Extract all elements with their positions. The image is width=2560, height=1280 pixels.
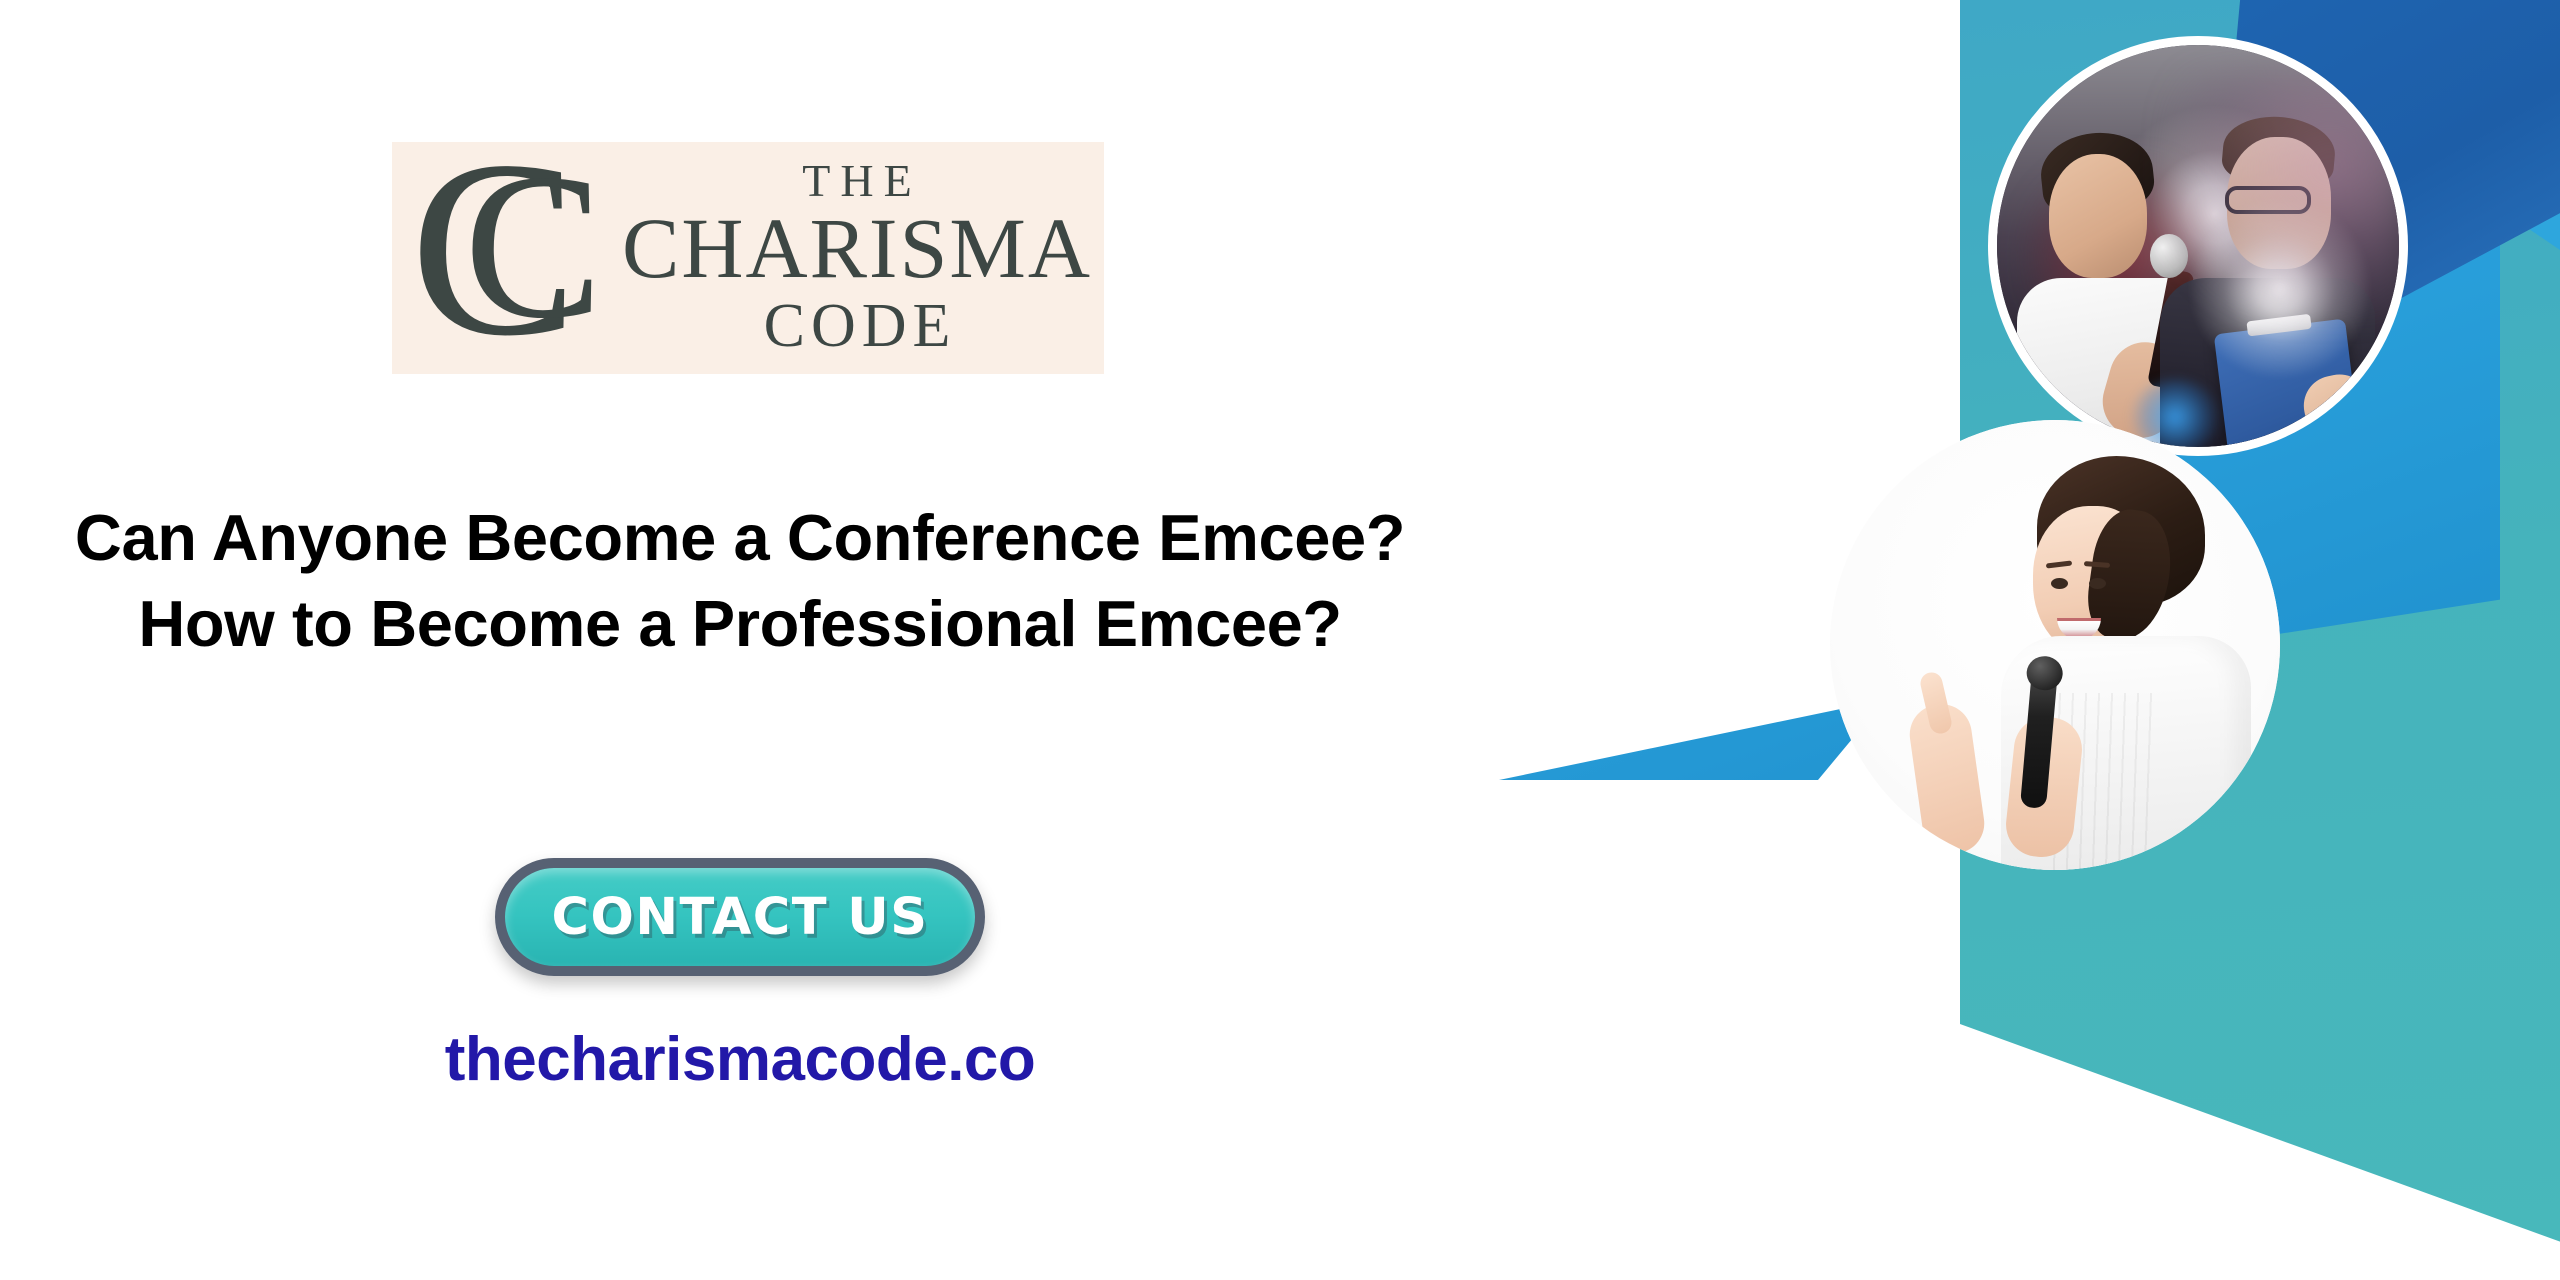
logo-line-the: THE bbox=[792, 157, 921, 205]
man-b-head bbox=[2227, 137, 2331, 269]
website-url[interactable]: thecharismacode.co bbox=[0, 1024, 1480, 1095]
stage-scene-background bbox=[1997, 45, 2399, 447]
photo-woman-emcee bbox=[1830, 420, 2280, 870]
page-title: Can Anyone Become a Conference Emcee? Ho… bbox=[40, 495, 1440, 668]
promo-banner: C C THE CHARISMA CODE Can Anyone Become … bbox=[0, 0, 2560, 1280]
contact-us-button[interactable]: CONTACT US bbox=[495, 858, 985, 976]
cta-row: CONTACT US bbox=[0, 858, 1480, 976]
logo-wordmark: THE CHARISMA CODE bbox=[622, 157, 1092, 360]
woman-eye-right bbox=[2089, 578, 2106, 589]
man-a-head bbox=[2049, 154, 2147, 278]
content-column: C C THE CHARISMA CODE Can Anyone Become … bbox=[0, 0, 1480, 1280]
microphone-head-icon bbox=[2150, 234, 2188, 278]
contact-us-button-label: CONTACT US bbox=[552, 888, 929, 947]
photo-two-men-emcee bbox=[1988, 36, 2408, 456]
brand-logo[interactable]: C C THE CHARISMA CODE bbox=[392, 142, 1104, 374]
cc-monogram-icon: C C bbox=[418, 158, 628, 358]
stage-light-flare bbox=[2190, 198, 2370, 378]
logo-line-charisma: CHARISMA bbox=[622, 205, 1092, 293]
man-b-hair bbox=[2220, 113, 2338, 191]
graphic-panel bbox=[1400, 0, 2560, 1280]
white-studio-background bbox=[1830, 420, 2280, 870]
woman-eye-left bbox=[2051, 578, 2068, 589]
monogram-c-inner: C bbox=[464, 142, 603, 350]
eyeglasses-icon bbox=[2225, 186, 2311, 214]
logo-line-code: CODE bbox=[758, 293, 957, 360]
